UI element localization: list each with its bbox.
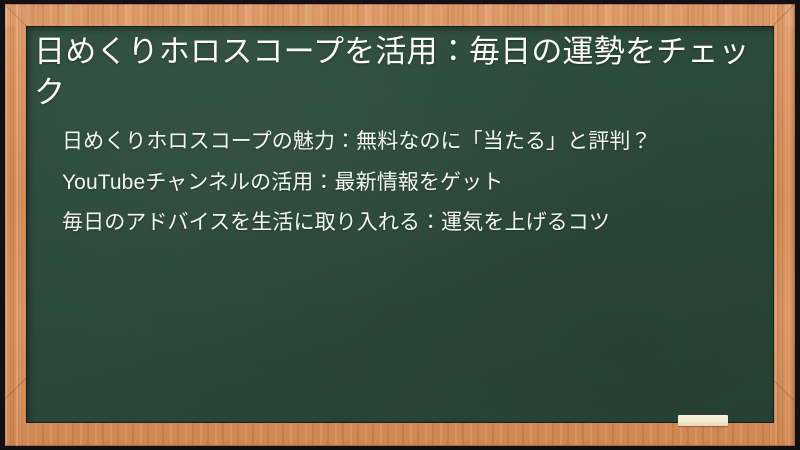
chalkboard-content: 日めくりホロスコープを活用：毎日の運勢をチェック 日めくりホロスコープの魅力：無… — [26, 26, 774, 423]
page-title: 日めくりホロスコープを活用：毎日の運勢をチェック — [33, 31, 760, 113]
wood-grain-top — [5, 4, 795, 26]
chalkboard-surface: 日めくりホロスコープを活用：毎日の運勢をチェック 日めくりホロスコープの魅力：無… — [26, 26, 774, 423]
topic-list: 日めくりホロスコープの魅力：無料なのに「当たる」と評判？ YouTubeチャンネ… — [33, 127, 760, 238]
chalkboard-card: 日めくりホロスコープを活用：毎日の運勢をチェック 日めくりホロスコープの魅力：無… — [0, 0, 800, 450]
list-item: 日めくりホロスコープの魅力：無料なのに「当たる」と評判？ — [62, 127, 760, 157]
chalk-stick-icon — [678, 415, 728, 426]
list-item: YouTubeチャンネルの活用：最新情報をゲット — [62, 168, 760, 198]
list-item: 毎日のアドバイスを生活に取り入れる：運気を上げるコツ — [62, 208, 760, 238]
